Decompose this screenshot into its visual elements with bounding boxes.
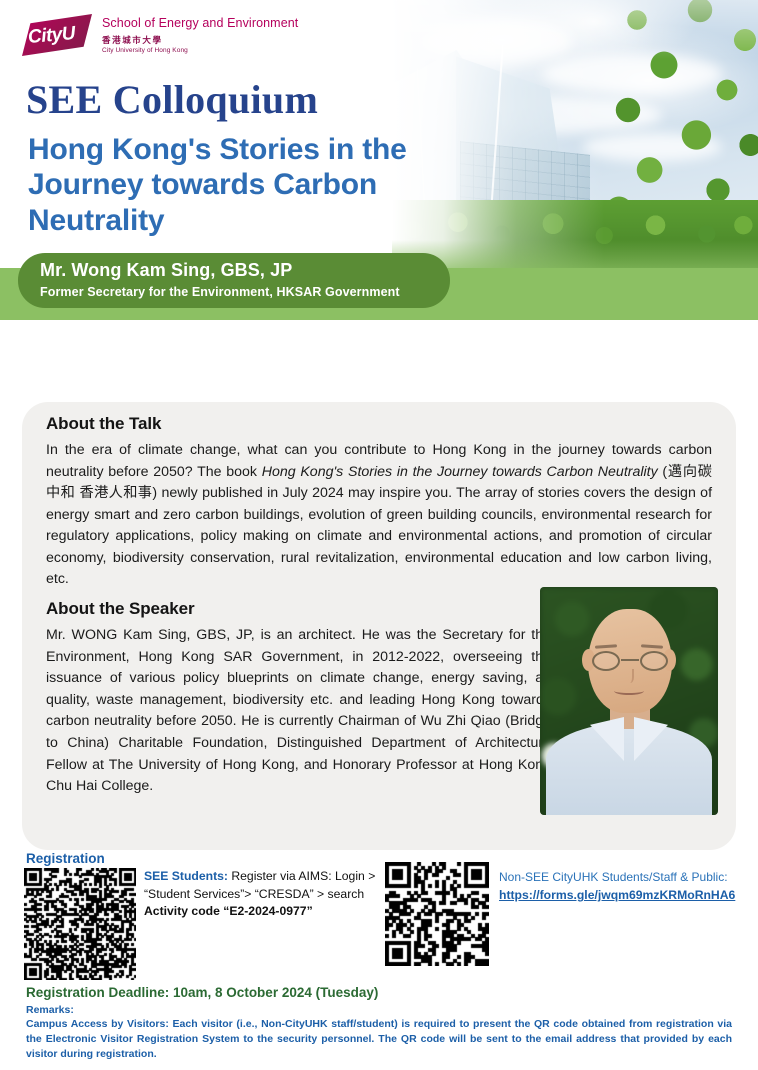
book-title-italic: Hong Kong's Stories in the Journey towar… [262,464,658,480]
remarks-label: Remarks: [26,1004,74,1016]
public-label: Non-SEE CityUHK Students/Staff & Public: [499,870,728,884]
poster-root: CityU School of Energy and Environment 香… [0,0,758,1070]
registration-form-link[interactable]: https://forms.gle/jwqm69mzKRMoRnHA6 [499,886,749,904]
speaker-badge: Mr. Wong Kam Sing, GBS, JP Former Secret… [18,253,450,308]
university-name-english: City University of Hong Kong [102,47,298,54]
activity-code: Activity code “E2-2024-0977” [144,904,313,918]
about-talk-body: In the era of climate change, what can y… [46,440,712,591]
talk-title: Hong Kong's Stories in the Journey towar… [28,132,468,238]
cityu-logo-lockup: CityU School of Energy and Environment 香… [22,14,298,56]
see-students-label: SEE Students: [144,869,228,883]
speaker-name: Mr. Wong Kam Sing, GBS, JP [40,260,450,281]
cityu-logo-wordmark: CityU [27,23,76,49]
speaker-role: Former Secretary for the Environment, HK… [40,285,450,299]
registration-see-students-text: SEE Students: Register via AIMS: Login >… [144,868,376,921]
qr-code-public[interactable] [385,862,489,966]
about-speaker-body: Mr. WONG Kam Sing, GBS, JP, is an archit… [46,625,551,798]
remarks-body: Campus Access by Visitors: Each visitor … [26,1017,732,1062]
school-name: School of Energy and Environment [102,16,298,30]
page-title: SEE Colloquium [26,76,318,123]
about-talk-heading: About the Talk [46,414,712,434]
registration-public-text: Non-SEE CityUHK Students/Staff & Public:… [499,868,749,904]
speaker-portrait-photo [540,587,718,815]
university-name-chinese: 香港城市大學 [102,34,298,46]
eyeglasses [590,651,670,671]
hero-header: CityU School of Energy and Environment 香… [0,0,758,320]
content-card: About the Talk In the era of climate cha… [22,402,736,850]
registration-heading: Registration [26,851,105,866]
cityu-logo-icon: CityU [22,14,92,56]
registration-deadline: Registration Deadline: 10am, 8 October 2… [26,985,378,1000]
qr-code-see-students[interactable] [24,868,136,980]
